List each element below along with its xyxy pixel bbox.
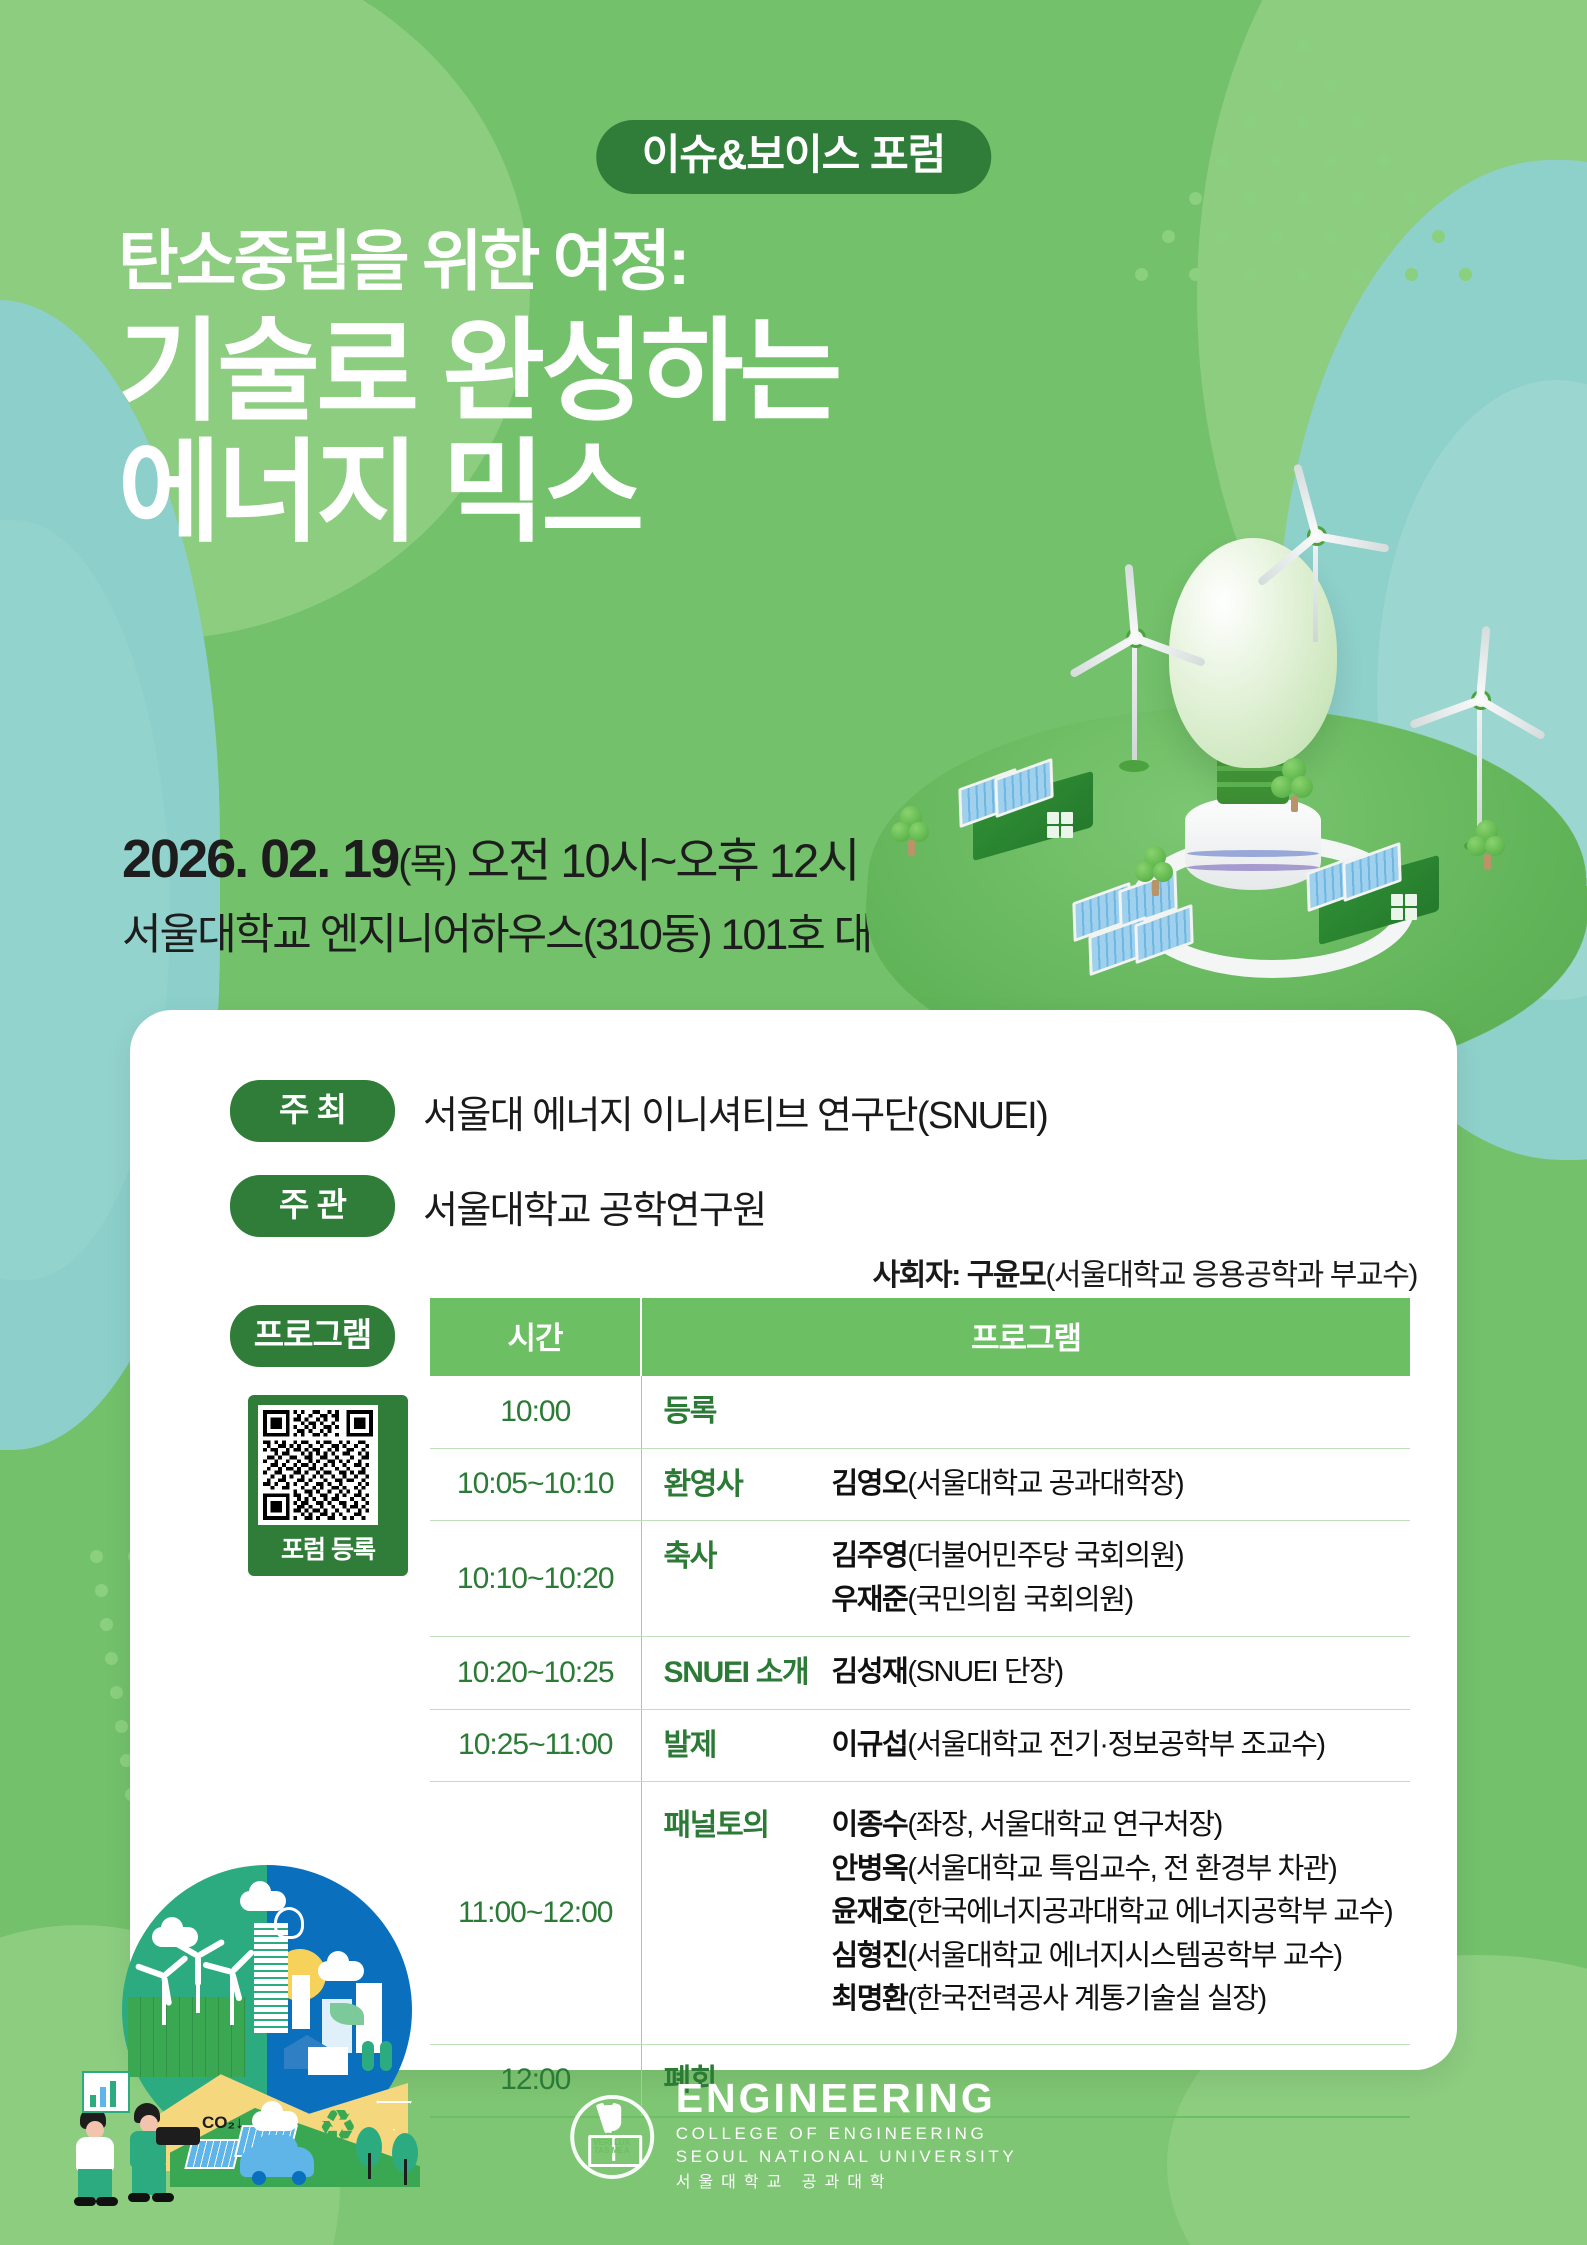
cell-program: 발제이규섭(서울대학교 전기·정보공학부 조교수) xyxy=(641,1709,1410,1782)
speaker-name: 이종수 xyxy=(832,1809,908,1841)
recycle-icon: ♻ xyxy=(318,2105,357,2149)
speaker-name: 최명환 xyxy=(832,1983,908,2015)
speaker-name: 김주영 xyxy=(832,1540,908,1572)
program-title: 등록 xyxy=(664,1390,814,1434)
event-date-line: 2026. 02. 19(목) 오전 10시~오후 12시 xyxy=(122,828,947,890)
decor-dot xyxy=(1432,230,1445,243)
decor-dot xyxy=(1270,230,1283,243)
cell-program: 축사김주영(더불어민주당 국회의원)우재준(국민의힘 국회의원) xyxy=(641,1521,1410,1637)
decor-dot xyxy=(1324,154,1337,167)
pedestal-stripe xyxy=(1187,850,1319,857)
decor-dot xyxy=(1351,268,1364,281)
researcher-icon-2 xyxy=(126,2103,196,2203)
cell-program: 등록 xyxy=(641,1376,1410,1448)
decor-dot xyxy=(1324,230,1337,243)
program-speakers: 김성재(SNUEI 단장) xyxy=(832,1651,1063,1695)
cell-program: 환영사김영오(서울대학교 공과대학장) xyxy=(641,1448,1410,1521)
speaker-name: 김영오 xyxy=(832,1468,908,1500)
wind-turbine-icon-2 xyxy=(1257,512,1377,662)
decor-dot xyxy=(1162,230,1175,243)
tree-icon-1 xyxy=(891,806,931,866)
decor-dot xyxy=(1405,268,1418,281)
decor-dot xyxy=(1270,78,1283,91)
program-title: 패널토의 xyxy=(664,1804,814,1848)
decor-dot xyxy=(1216,154,1229,167)
decor-dot xyxy=(1189,268,1202,281)
speaker-affiliation: (국민의힘 국회의원) xyxy=(907,1584,1132,1616)
program-speakers: 김주영(더불어민주당 국회의원)우재준(국민의힘 국회의원) xyxy=(832,1535,1184,1622)
dot-pattern-top-right xyxy=(1127,40,1467,300)
cell-time: 10:00 xyxy=(430,1376,641,1448)
speaker-entry: 김성재(SNUEI 단장) xyxy=(832,1651,1063,1695)
researcher-icon-1 xyxy=(70,2107,130,2203)
program-speakers: 이종수(좌장, 서울대학교 연구처장)안병옥(서울대학교 특임교수, 전 환경부… xyxy=(832,1804,1393,2022)
window-icon-2 xyxy=(1391,894,1403,906)
footer-logo: VERI LUX TAS MEA ENGINEERING COLLEGE OF … xyxy=(570,2078,1018,2195)
tree-icon-3 xyxy=(1135,846,1175,904)
speaker-name: 김성재 xyxy=(832,1656,908,1688)
speaker-affiliation: (더불어민주당 국회의원) xyxy=(907,1540,1183,1572)
qr-code-icon[interactable] xyxy=(258,1405,378,1525)
program-table: 시간 프로그램 10:00등록10:05~10:10환영사김영오(서울대학교 공… xyxy=(430,1298,1410,2118)
decor-dot xyxy=(1243,192,1256,205)
table-row: 10:05~10:10환영사김영오(서울대학교 공과대학장) xyxy=(430,1448,1410,1521)
qr-registration-block[interactable]: 포럼 등록 xyxy=(248,1395,408,1576)
cloud-icon-4 xyxy=(252,2111,298,2131)
building-icon-1 xyxy=(254,1923,288,2033)
speaker-affiliation: (서울대학교 에너지시스템공학부 교수) xyxy=(907,1940,1341,1972)
organizer-pill-host: 주 최 xyxy=(230,1080,395,1142)
speaker-entry: 김영오(서울대학교 공과대학장) xyxy=(832,1463,1184,1507)
title-line-1: 탄소중립을 위한 여정: xyxy=(118,228,838,294)
forum-badge: 이슈&보이스 포럼 xyxy=(596,120,991,194)
organizer-value-manage: 서울대학교 공학연구원 xyxy=(423,1179,766,1234)
cloud-icon-1 xyxy=(240,1891,286,1911)
car-wheel-2 xyxy=(292,2171,306,2185)
program-pill: 프로그램 xyxy=(230,1305,395,1367)
decor-dot xyxy=(1270,154,1283,167)
event-venue: 서울대학교 엔지니어하우스(310동) 101호 대강당 xyxy=(122,900,947,962)
speaker-entry: 이종수(좌장, 서울대학교 연구처장) xyxy=(832,1804,1393,1848)
program-speakers: 이규섭(서울대학교 전기·정보공학부 조교수) xyxy=(832,1724,1325,1768)
co2-label: CO₂↓ xyxy=(202,2113,244,2133)
chart-icon xyxy=(82,2071,130,2113)
program-title: 축사 xyxy=(664,1535,814,1579)
decor-dot xyxy=(110,1686,123,1699)
pedestal-stripe-2 xyxy=(1187,864,1319,871)
decor-dot xyxy=(1378,154,1391,167)
table-row: 10:25~11:00발제이규섭(서울대학교 전기·정보공학부 조교수) xyxy=(430,1709,1410,1782)
cell-time: 10:05~10:10 xyxy=(430,1448,641,1521)
building-icon-2 xyxy=(292,1975,310,2029)
cell-program: 패널토의이종수(좌장, 서울대학교 연구처장)안병옥(서울대학교 특임교수, 전… xyxy=(641,1782,1410,2045)
footer-illustration: ♻ CO₂↓ xyxy=(30,1865,500,2205)
crop-icon xyxy=(362,2041,374,2071)
table-row: 10:00등록 xyxy=(430,1376,1410,1448)
program-title: 발제 xyxy=(664,1724,814,1768)
table-row: 10:10~10:20축사김주영(더불어민주당 국회의원)우재준(국민의힘 국회… xyxy=(430,1521,1410,1637)
decor-dot xyxy=(100,1618,113,1631)
decor-dot xyxy=(1297,268,1310,281)
speaker-entry: 윤재호(한국에너지공과대학교 에너지공학부 교수) xyxy=(832,1891,1393,1935)
decor-dot xyxy=(1378,230,1391,243)
speaker-name: 우재준 xyxy=(832,1584,908,1616)
decor-dot xyxy=(1351,116,1364,129)
footer-line-1: ENGINEERING xyxy=(676,2078,1018,2119)
organizer-row-manage: 주 관 서울대학교 공학연구원 xyxy=(230,1175,766,1237)
event-date: 2026. 02. 19 xyxy=(122,829,398,889)
wind-turbine-flat-3 xyxy=(212,1955,252,2019)
speaker-entry: 이규섭(서울대학교 전기·정보공학부 조교수) xyxy=(832,1724,1325,1768)
cell-program: SNUEI 소개김성재(SNUEI 단장) xyxy=(641,1637,1410,1710)
program-title: SNUEI 소개 xyxy=(664,1651,814,1695)
title-line-2: 기술로 완성하는 xyxy=(118,312,838,433)
tree-flat-1 xyxy=(356,2127,382,2179)
organizer-row-host: 주 최 서울대 에너지 이니셔티브 연구단(SNUEI) xyxy=(230,1080,1047,1142)
decor-dot xyxy=(1135,268,1148,281)
decor-dot xyxy=(90,1550,103,1563)
poster-root: 이슈&보이스 포럼 탄소중립을 위한 여정: 기술로 완성하는 에너지 믹스 2… xyxy=(0,0,1587,2245)
decor-dot xyxy=(1243,268,1256,281)
tree-icon-2 xyxy=(1271,758,1315,822)
wind-turbine-icon xyxy=(1079,610,1189,780)
table-header-row: 시간 프로그램 xyxy=(430,1298,1410,1376)
event-datetime-block: 2026. 02. 19(목) 오전 10시~오후 12시 서울대학교 엔지니어… xyxy=(122,828,947,962)
program-title: 환영사 xyxy=(664,1463,814,1507)
column-header-program: 프로그램 xyxy=(641,1298,1410,1376)
program-speakers: 김영오(서울대학교 공과대학장) xyxy=(832,1463,1184,1507)
column-header-time: 시간 xyxy=(430,1298,641,1376)
speaker-affiliation: (한국전력공사 계통기술실 실장) xyxy=(907,1983,1265,2015)
tree-flat-2 xyxy=(392,2133,418,2185)
table-row: 10:20~10:25SNUEI 소개김성재(SNUEI 단장) xyxy=(430,1637,1410,1710)
moderator-line: 사회자: 구윤모(서울대학교 응용공학과 부교수) xyxy=(873,1250,1417,1294)
footer-text-block: ENGINEERING COLLEGE OF ENGINEERING SEOUL… xyxy=(676,2078,1018,2195)
decor-dot xyxy=(95,1584,108,1597)
decor-dot xyxy=(1459,268,1472,281)
cell-time: 10:20~10:25 xyxy=(430,1637,641,1710)
decor-dot xyxy=(1189,192,1202,205)
speaker-name: 윤재호 xyxy=(832,1896,908,1928)
page-title: 탄소중립을 위한 여정: 기술로 완성하는 에너지 믹스 xyxy=(118,228,838,554)
footer-line-2: COLLEGE OF ENGINEERING xyxy=(676,2123,1018,2146)
title-line-3: 에너지 믹스 xyxy=(118,433,838,554)
decor-dot xyxy=(1297,192,1310,205)
decor-dot xyxy=(1297,116,1310,129)
speaker-entry: 심형진(서울대학교 에너지시스템공학부 교수) xyxy=(832,1935,1393,1979)
cloud-icon-2 xyxy=(318,1961,364,1981)
organizer-pill-manage: 주 관 xyxy=(230,1175,395,1237)
table-row: 11:00~12:00패널토의이종수(좌장, 서울대학교 연구처장)안병옥(서울… xyxy=(430,1782,1410,2045)
speaker-entry: 최명환(한국전력공사 계통기술실 실장) xyxy=(832,1978,1393,2022)
speaker-affiliation: (서울대학교 공과대학장) xyxy=(907,1468,1183,1500)
decor-dot xyxy=(115,1720,128,1733)
cell-time: 10:25~11:00 xyxy=(430,1709,641,1782)
speaker-entry: 김주영(더불어민주당 국회의원) xyxy=(832,1535,1184,1579)
decor-dot xyxy=(1297,40,1310,53)
bg-circle-small xyxy=(180,72,340,232)
speaker-entry: 우재준(국민의힘 국회의원) xyxy=(832,1579,1184,1623)
decor-dot xyxy=(1216,230,1229,243)
speaker-affiliation: (서울대학교 전기·정보공학부 조교수) xyxy=(907,1729,1324,1761)
event-time: 오전 10시~오후 12시 xyxy=(467,834,859,887)
organizer-value-host: 서울대 에너지 이니셔티브 연구단(SNUEI) xyxy=(423,1084,1047,1139)
window-icon xyxy=(1047,812,1059,824)
speaker-affiliation: (좌장, 서울대학교 연구처장) xyxy=(907,1809,1222,1841)
speaker-affiliation: (서울대학교 특임교수, 전 환경부 차관) xyxy=(907,1853,1336,1885)
decor-dot xyxy=(105,1652,118,1665)
decor-dot xyxy=(1405,192,1418,205)
speaker-name: 이규섭 xyxy=(832,1729,908,1761)
emblem-motto: VERI LUX TAS MEA xyxy=(590,2139,634,2156)
car-wheel-1 xyxy=(252,2171,266,2185)
speaker-affiliation: (한국에너지공과대학교 에너지공학부 교수) xyxy=(907,1896,1392,1928)
qr-label: 포럼 등록 xyxy=(258,1525,398,1570)
decor-dot xyxy=(1351,192,1364,205)
cell-time: 10:10~10:20 xyxy=(430,1521,641,1637)
footer-line-3: SEOUL NATIONAL UNIVERSITY xyxy=(676,2146,1018,2169)
moderator-affiliation: (서울대학교 응용공학과 부교수) xyxy=(1045,1259,1417,1292)
decor-dot xyxy=(1243,116,1256,129)
moderator-name: 사회자: 구윤모 xyxy=(873,1259,1046,1292)
event-weekday: (목) xyxy=(398,842,455,886)
footer-line-4: 서울대학교 공과대학 xyxy=(676,2171,1018,2195)
speaker-affiliation: (SNUEI 단장) xyxy=(907,1656,1062,1688)
speaker-name: 안병옥 xyxy=(832,1853,908,1885)
speaker-name: 심형진 xyxy=(832,1940,908,1972)
decor-dot xyxy=(1324,78,1337,91)
house-icon-2 xyxy=(308,2047,348,2075)
bulb-flat-icon xyxy=(274,1907,304,1939)
tree-icon-4 xyxy=(1467,820,1507,878)
hero-illustration-3d xyxy=(867,520,1587,1080)
speaker-entry: 안병옥(서울대학교 특임교수, 전 환경부 차관) xyxy=(832,1848,1393,1892)
snu-emblem-icon: VERI LUX TAS MEA xyxy=(570,2095,654,2179)
